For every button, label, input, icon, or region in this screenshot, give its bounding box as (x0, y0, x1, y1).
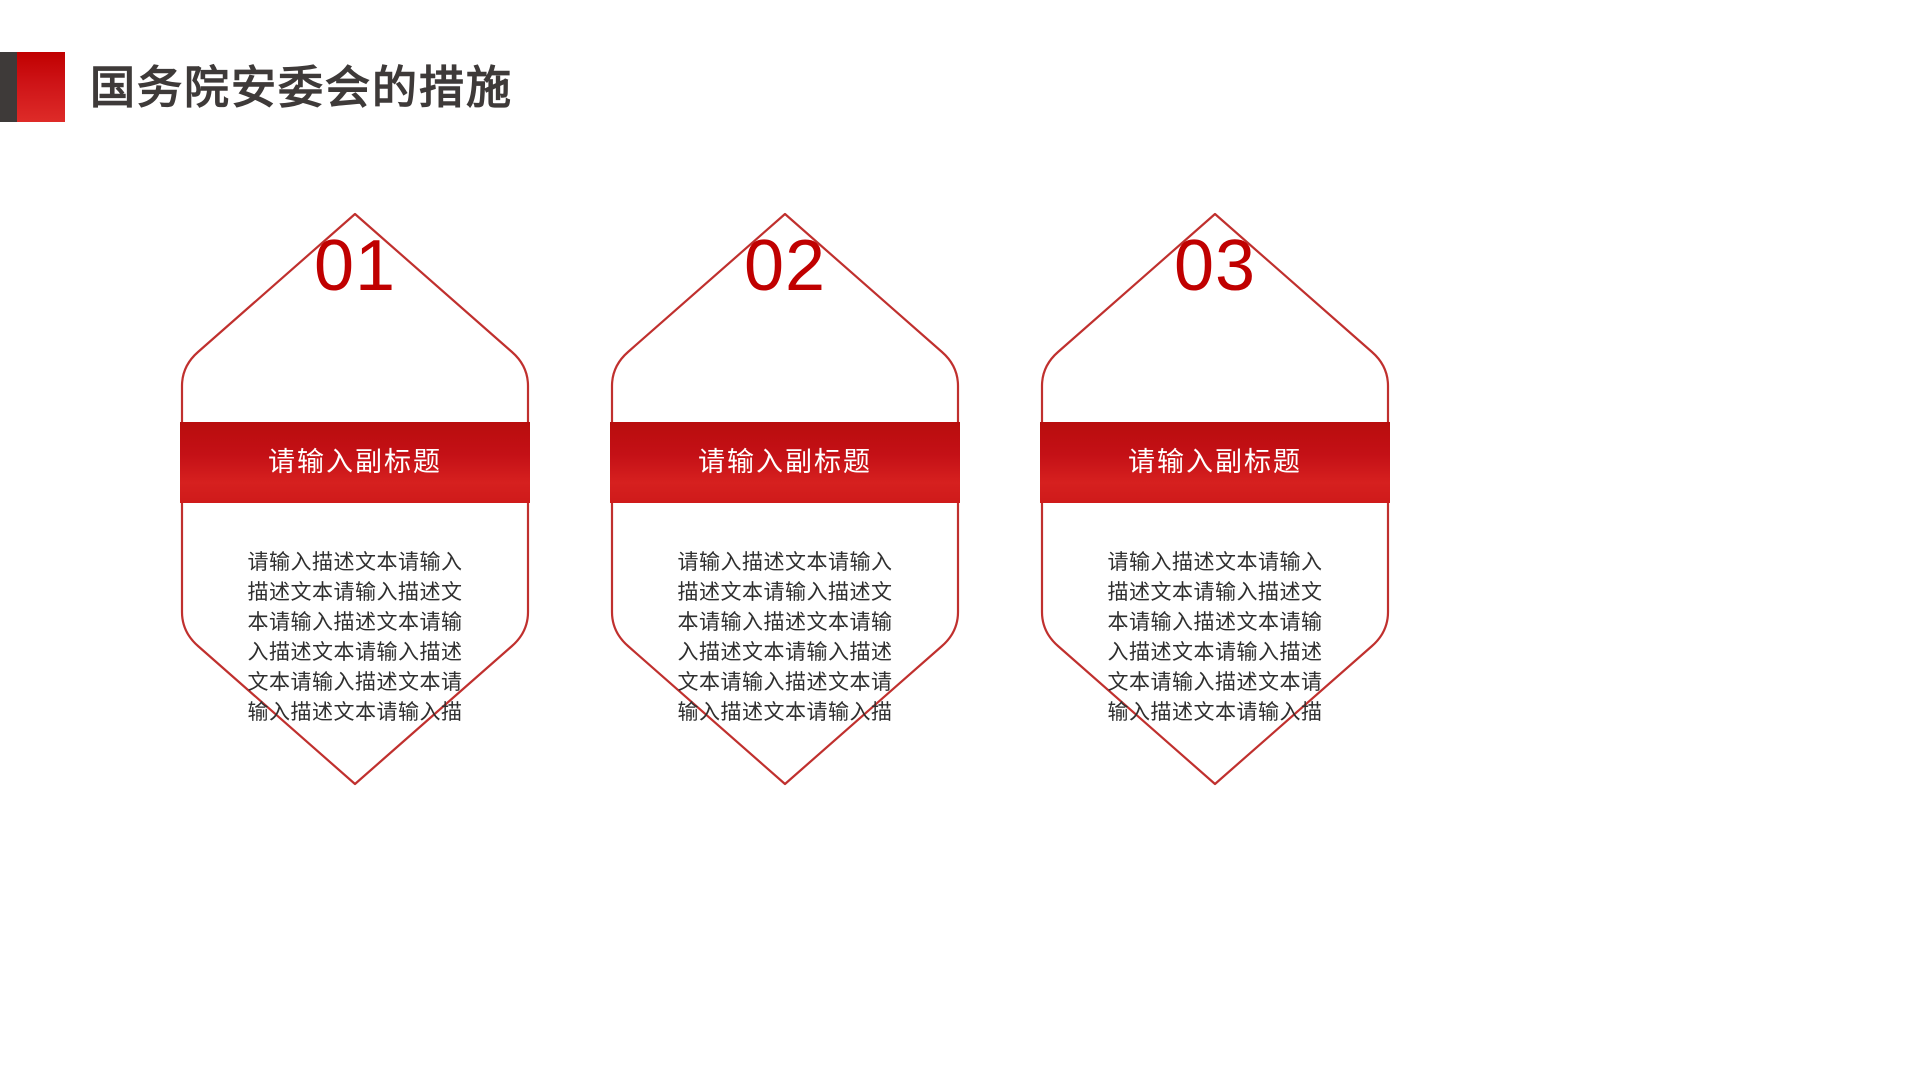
accent-bar-dark-segment (0, 52, 17, 122)
accent-bar (0, 52, 65, 122)
card-banner: 请输入副标题 (180, 422, 530, 503)
card-body-text: 请输入描述文本请输入 描述文本请输入描述文 本请输入描述文本请输 入描述文本请输… (632, 547, 938, 727)
card-subtitle: 请输入副标题 (268, 449, 442, 476)
body-line: 本请输入描述文本请输 (1062, 607, 1368, 637)
card-banner: 请输入副标题 (1040, 422, 1390, 503)
body-line: 入描述文本请输入描述 (1062, 637, 1368, 667)
card-number: 03 (1040, 230, 1390, 302)
body-line: 请输入描述文本请输入 (1062, 547, 1368, 577)
body-line: 输入描述文本请输入描 (202, 697, 508, 727)
body-line: 请输入描述文本请输入 (202, 547, 508, 577)
card-banner: 请输入副标题 (610, 422, 960, 503)
body-line: 文本请输入描述文本请 (202, 667, 508, 697)
card-subtitle: 请输入副标题 (698, 449, 872, 476)
accent-bar-red-segment (17, 52, 65, 122)
body-line: 描述文本请输入描述文 (202, 577, 508, 607)
body-line: 本请输入描述文本请输 (632, 607, 938, 637)
card-number: 02 (610, 230, 960, 302)
body-line: 输入描述文本请输入描 (632, 697, 938, 727)
body-line: 文本请输入描述文本请 (632, 667, 938, 697)
card-body-text: 请输入描述文本请输入 描述文本请输入描述文 本请输入描述文本请输 入描述文本请输… (202, 547, 508, 727)
slide-header: 国务院安委会的措施 (0, 52, 513, 122)
card-subtitle: 请输入副标题 (1128, 449, 1302, 476)
hexagon-card-02[interactable]: 02 请输入副标题 请输入描述文本请输入 描述文本请输入描述文 本请输入描述文本… (610, 212, 960, 792)
hexagon-card-01[interactable]: 01 请输入副标题 请输入描述文本请输入 描述文本请输入描述文 本请输入描述文本… (180, 212, 530, 792)
slide-canvas: 国务院安委会的措施 01 请输入副标题 请输入描述文本请输入 描述文本请输入描述… (0, 0, 1920, 1080)
card-number: 01 (180, 230, 530, 302)
body-line: 入描述文本请输入描述 (202, 637, 508, 667)
body-line: 入描述文本请输入描述 (632, 637, 938, 667)
card-body-text: 请输入描述文本请输入 描述文本请输入描述文 本请输入描述文本请输 入描述文本请输… (1062, 547, 1368, 727)
cards-row: 01 请输入副标题 请输入描述文本请输入 描述文本请输入描述文 本请输入描述文本… (180, 212, 1740, 812)
body-line: 描述文本请输入描述文 (1062, 577, 1368, 607)
body-line: 文本请输入描述文本请 (1062, 667, 1368, 697)
body-line: 请输入描述文本请输入 (632, 547, 938, 577)
body-line: 输入描述文本请输入描 (1062, 697, 1368, 727)
hexagon-card-03[interactable]: 03 请输入副标题 请输入描述文本请输入 描述文本请输入描述文 本请输入描述文本… (1040, 212, 1390, 792)
body-line: 本请输入描述文本请输 (202, 607, 508, 637)
body-line: 描述文本请输入描述文 (632, 577, 938, 607)
page-title: 国务院安委会的措施 (90, 65, 513, 110)
